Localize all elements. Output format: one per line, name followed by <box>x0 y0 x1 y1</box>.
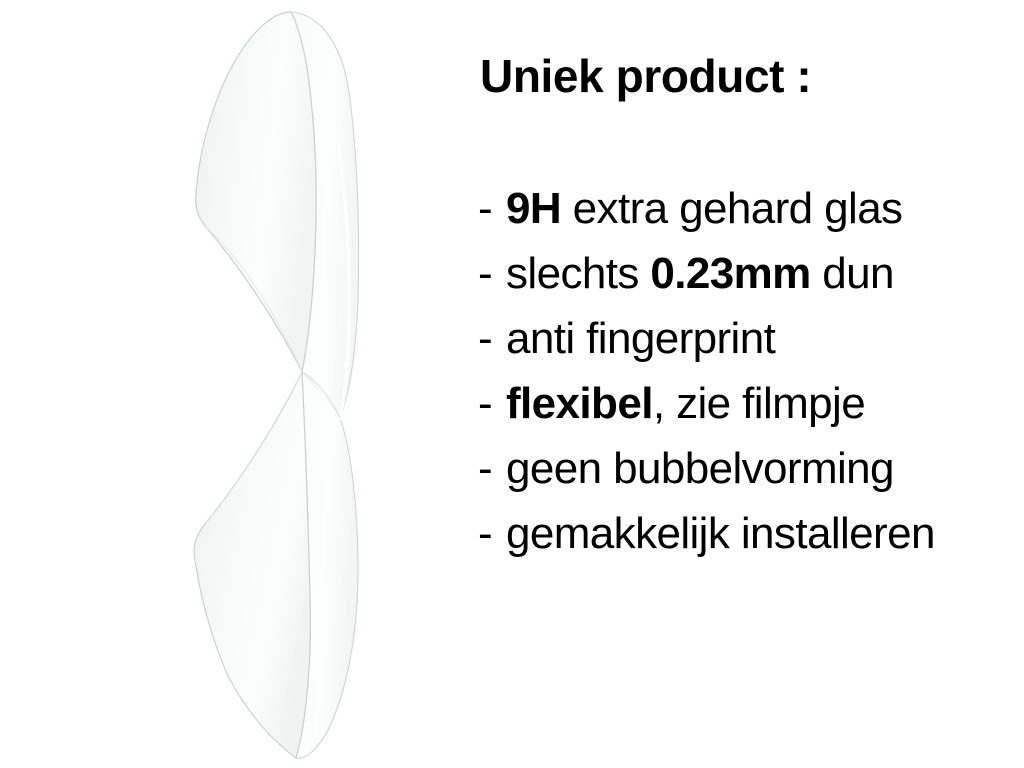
list-item: -flexibel, zie filmpje <box>474 373 1024 438</box>
bullet-marker: - <box>478 373 506 435</box>
feature-text-panel: Uniek product : -9H extra gehard glas -s… <box>474 0 1024 768</box>
bullet-marker: - <box>478 308 506 370</box>
feature-text-2: anti fingerprint <box>506 314 775 363</box>
feature-emphasis-flexibel: flexibel <box>506 379 653 428</box>
feature-text-3: flexibel, zie filmpje <box>506 379 865 428</box>
glass-lower-front-face <box>194 372 310 758</box>
bullet-marker: - <box>478 178 506 240</box>
list-item: -slechts 0.23mm dun <box>474 243 1024 308</box>
feature-lead-4: geen bubbelvorming <box>506 444 894 493</box>
glass-upper-front-face <box>196 12 316 372</box>
feature-text-5: gemakkelijk installeren <box>506 509 935 558</box>
feature-emphasis-9h: 9H <box>506 184 561 233</box>
list-item: -geen bubbelvorming <box>474 438 1024 503</box>
feature-lead-5: gemakkelijk installeren <box>506 509 935 558</box>
page-title: Uniek product : <box>480 52 811 100</box>
bullet-marker: - <box>478 438 506 500</box>
bullet-marker: - <box>478 243 506 305</box>
feature-rest-0: extra gehard glas <box>561 184 902 233</box>
feature-lead-1: slechts <box>506 249 650 298</box>
list-item: -gemakkelijk installeren <box>474 503 1024 568</box>
product-promo-image: Uniek product : -9H extra gehard glas -s… <box>0 0 1024 768</box>
feature-tail-1: dun <box>811 249 894 298</box>
feature-emphasis-thickness: 0.23mm <box>650 249 810 298</box>
product-image-twisted-glass <box>0 0 460 768</box>
list-item: -anti fingerprint <box>474 308 1024 373</box>
feature-text-4: geen bubbelvorming <box>506 444 894 493</box>
feature-text-1: slechts 0.23mm dun <box>506 249 894 298</box>
feature-rest-3: , zie filmpje <box>653 379 865 428</box>
feature-lead-2: anti fingerprint <box>506 314 775 363</box>
feature-text-0: 9H extra gehard glas <box>506 184 902 233</box>
list-item: -9H extra gehard glas <box>474 178 1024 243</box>
bullet-marker: - <box>478 503 506 565</box>
feature-list: -9H extra gehard glas -slechts 0.23mm du… <box>474 178 1024 568</box>
